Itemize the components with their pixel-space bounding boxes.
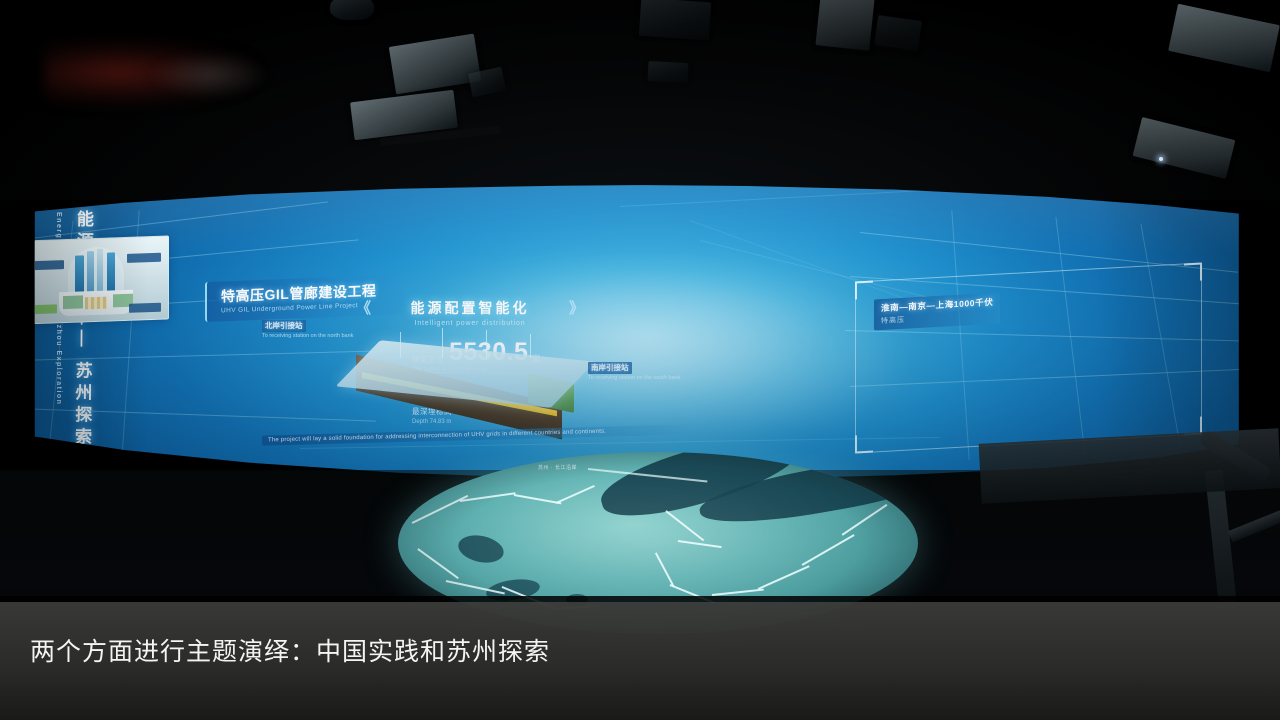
diagram-tag [30,260,64,270]
center-heading-cn: 能源配置智能化 [360,298,580,318]
model-label-title: 南岸引接站 [588,362,632,374]
gil-pipe-icon [97,249,103,295]
scene-root: 能源变革 —— 苏州探索 Energy Transition in Suzhou… [0,0,1280,720]
diagram-tag [127,253,161,263]
subtitle-bar: 两个方面进行主题演绎：中国实践和苏州探索 [0,602,1280,720]
watermark-text [150,52,270,98]
model-label-desc: To receiving station on the south bank [588,375,680,382]
right-info-panel: 淮南—南京—上海1000千伏 特高压 [855,262,1202,453]
river-water [696,452,918,533]
ceiling-fixture [648,61,689,83]
model-label-desc: To receiving station on the north bank [262,333,353,340]
model-label-south: 南岸引接站 To receiving station on the south … [588,362,680,383]
gil-pipe-icon [87,251,94,295]
gil-cross-section-diagram [22,235,169,324]
center-heading: 《 》 能源配置智能化 Intelligent power distributi… [360,298,580,327]
transmission-poles [390,328,560,362]
projector-icon [389,34,481,95]
ceiling-duct [639,0,711,40]
ceiling [0,0,1280,200]
model-label-title: 北岸引接站 [262,320,306,332]
ceiling-light-icon [330,0,374,20]
gil-pipe-icon [107,252,115,294]
cable-tray-icon [85,297,107,310]
projector-icon [1133,117,1236,179]
ceiling-fixture [874,15,922,51]
river-water [595,452,812,530]
status-led-icon [1159,157,1163,161]
gil-pipe-icon [75,255,84,295]
floor-map-caption: 苏州 · 长江沿岸 [538,464,577,471]
left-chevron-icon: 《 [356,297,371,318]
uhv-line-tag: 淮南—南京—上海1000千伏 特高压 [874,293,1000,331]
center-heading-en: Intelligent power distribution [360,320,580,327]
soil-band [63,295,83,309]
lake-water [456,532,506,567]
right-chevron-icon: 》 [569,297,584,318]
model-label-north: 北岸引接站 To receiving station on the north … [262,320,353,341]
diagram-tag [31,304,57,314]
diagram-tag [129,303,161,313]
curved-led-screen: 能源变革 —— 苏州探索 Energy Transition in Suzhou… [0,180,1245,480]
projector-icon [1168,4,1280,73]
projector-icon [815,0,874,51]
subtitle-text: 两个方面进行主题演绎：中国实践和苏州探索 [30,632,550,668]
